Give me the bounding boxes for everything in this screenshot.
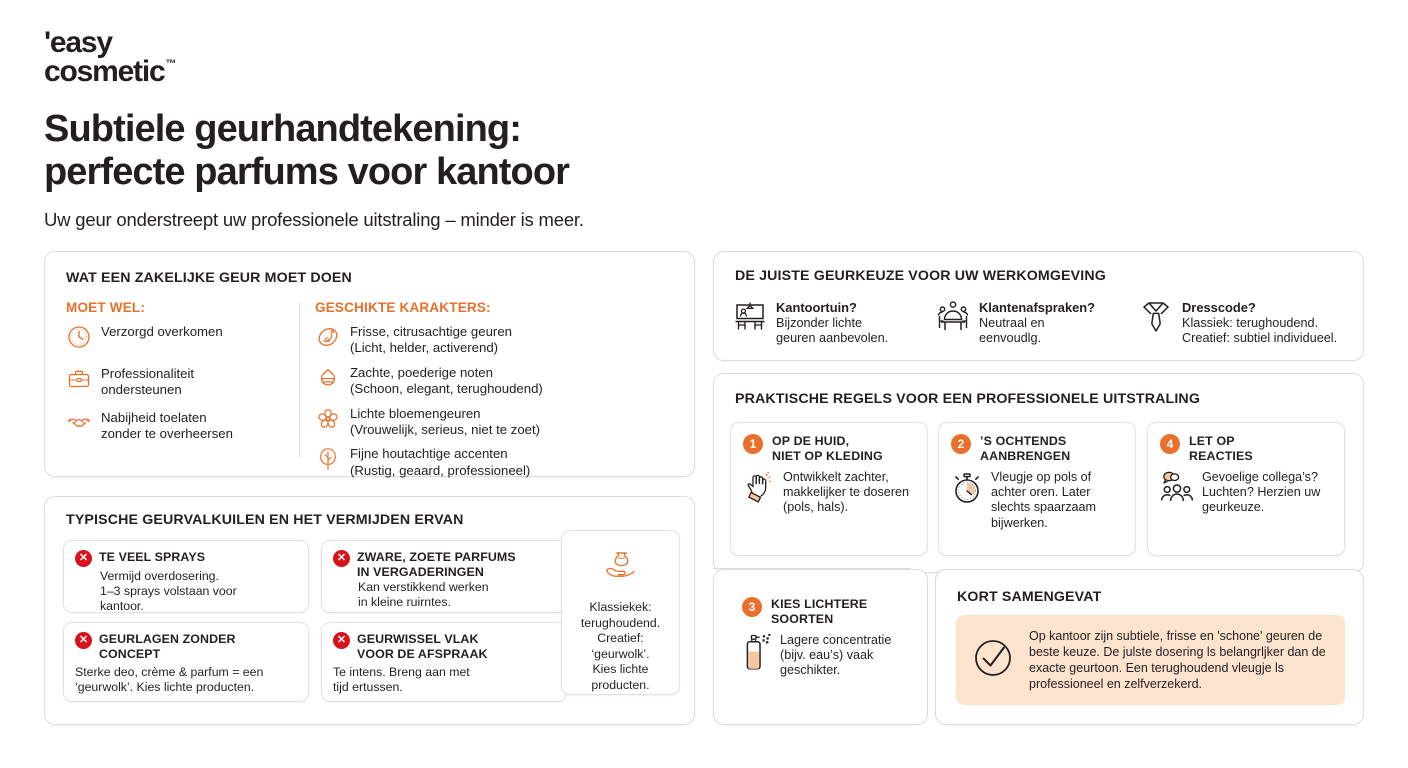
rule-header: 2 ’S OCHTENDS AANBRENGEN [951, 434, 1123, 464]
open-office-desk-icon [733, 300, 767, 339]
environment-item-title: Klantenafspraken? [979, 300, 1095, 315]
necktie-icon [1139, 300, 1173, 339]
summary-text: Op kantoor zijn subtiele, frisse en 'sch… [1029, 628, 1331, 693]
card-title-goals: WAT EEN ZAKELIJKE GEUR MOET DOEN [66, 270, 352, 286]
list-item-line2: (Vrouwelijk, serieus, niet te zoet) [350, 422, 540, 437]
pitfall-header: ✕ ZWARE, ZOETE PARFUMS IN VERGADERINGEN [333, 550, 555, 579]
list-item-label: Fijne houtachtige accenten (Rustig, geaa… [350, 446, 530, 479]
list-item-label: Verzorgd overkomen [101, 324, 223, 340]
spray-bottle-icon [742, 633, 772, 678]
brand-logo: 'easy cosmetic™ [44, 28, 164, 86]
rule-number-badge: 3 [742, 597, 762, 617]
close-icon: ✕ [333, 632, 350, 649]
pitfall-title: ZWARE, ZOETE PARFUMS IN VERGADERINGEN [357, 550, 516, 579]
brand-logo-line1: 'easy [44, 28, 164, 57]
goals-right-column: GESCHIKTE KARAKTERS: Frisse, citrusachti… [315, 300, 665, 479]
flower-icon [315, 406, 341, 437]
rule-body: Ontwikkelt zachter, makkelijker te doser… [743, 470, 915, 516]
pitfall-body: Kan verstikkend werken in kleine ruirnte… [333, 580, 555, 610]
list-item-label: Zachte, poederige noten (Schoon, elegant… [350, 365, 543, 398]
rule-text: Ontwikkelt zachter, makkelijker te doser… [783, 470, 909, 516]
check-circle-icon [970, 635, 1016, 686]
list-item-line1: Lichte bloemengeuren [350, 406, 481, 421]
rule-body: Lagere concentratie (bijv. eau’s) vaak g… [742, 633, 900, 679]
card-title-pitfalls: TYPISCHE GEURVALKUILEN EN HET VERMIJDEN … [66, 512, 464, 528]
close-icon: ✕ [333, 550, 350, 567]
close-icon: ✕ [75, 550, 92, 567]
brand-logo-line2: cosmetic™ [44, 57, 164, 86]
card-what-a-business-scent-should-do: WAT EEN ZAKELIJKE GEUR MOET DOEN MOET WE… [44, 251, 695, 477]
rule-header: 4 LET OP REACTIES [1160, 434, 1332, 464]
pitfalls-side-note: Klassiekek: terughoudend. Creatief: ‘geu… [561, 530, 680, 695]
page-title-line1: Subtiele geurhandtekening: [44, 108, 744, 151]
card-rule-lighter-types: 3 KIES LICHTERE SOORTEN Lagere concentra… [713, 569, 928, 725]
rule-title: ’S OCHTENDS AANBRENGEN [980, 434, 1070, 464]
pitfall-item: ✕ ZWARE, ZOETE PARFUMS IN VERGADERINGEN … [321, 540, 567, 613]
rule-number-badge: 4 [1160, 434, 1180, 454]
environment-item-body: Klassiek: terughoudend. Creatief: subtie… [1182, 316, 1337, 347]
goals-left-heading: MOET WEL: [66, 300, 293, 315]
environment-item-body: Bijzonder lichte geuren aanbevolen. [776, 316, 888, 347]
rule-item: 4 LET OP REACTIES Gevoelige collega’s? L… [1147, 422, 1345, 556]
rule-text: Gevoelige collega’s? Luchten? Herzien uw… [1202, 470, 1320, 516]
rule-text: Lagere concentratie (bijv. eau’s) vaak g… [780, 633, 891, 679]
list-item-label: Nabijheid toelaten zonder te overheersen [101, 410, 233, 443]
list-item: Nabijheid toelaten zonder te overheersen [66, 410, 293, 443]
rule-title: OP DE HUID, NIET OP KLEDING [772, 434, 883, 464]
rule-number-badge: 1 [743, 434, 763, 454]
list-item-line2: (Rustig, geaard, professioneel) [350, 463, 530, 478]
infographic-page: 'easy cosmetic™ Subtiele geurhandtekenin… [0, 0, 1408, 768]
tree-icon [315, 446, 341, 477]
pitfall-body: Sterke deo, crème & parfum = een ‘geurwo… [75, 665, 297, 695]
environment-item: Kantoortuin? Bijzonder lichte geuren aan… [733, 300, 888, 347]
pitfall-header: ✕ GEURWISSEL VLAK VOOR DE AFSPRAAK [333, 632, 555, 661]
pitfall-header: ✕ TE VEEL SPRAYS [75, 550, 297, 567]
meeting-table-people-icon [936, 300, 970, 339]
card-title-rules: PRAKTISCHE REGELS VOOR EEN PROFESSIONELE… [735, 391, 1200, 407]
pitfall-title: GEURWISSEL VLAK VOOR DE AFSPRAAK [357, 632, 488, 661]
list-item-label: Lichte bloemengeuren (Vrouwelijk, serieu… [350, 406, 540, 439]
pitfall-header: ✕ GEURLAGEN ZONDER CONCEPT [75, 632, 297, 661]
list-item: Lichte bloemengeuren (Vrouwelijk, serieu… [315, 406, 665, 439]
list-item-label: Frisse, citrusachtige geuren (Licht, hel… [350, 324, 512, 357]
powder-icon [315, 365, 341, 396]
goals-left-column: MOET WEL: Verzorgd overkomen Professiona… [66, 300, 293, 443]
pitfalls-side-note-text: Klassiekek: terughoudend. Creatief: ‘geu… [581, 600, 660, 694]
card-summary: KORT SAMENGEVAT Op kantoor zijn subtiele… [935, 569, 1364, 725]
list-item-line2: (Licht, helder, activerend) [350, 340, 498, 355]
card-practical-rules: PRAKTISCHE REGELS VOOR EEN PROFESSIONELE… [713, 373, 1364, 573]
hand-wrist-spray-icon [743, 470, 775, 511]
list-item-line2: (Schoon, elegant, terughoudend) [350, 381, 543, 396]
pitfall-item: ✕ GEURWISSEL VLAK VOOR DE AFSPRAAK Te in… [321, 622, 567, 702]
rule-header: 1 OP DE HUID, NIET OP KLEDING [743, 434, 915, 464]
environment-item: Dresscode? Klassiek: terughoudend. Creat… [1139, 300, 1337, 347]
rule-header: 3 KIES LICHTERE SOORTEN [742, 597, 900, 627]
brand-logo-line2-text: cosmetic [44, 55, 164, 88]
card-title-environment: DE JUISTE GEURKEUZE VOOR UW WERKOMGEVING [735, 268, 1106, 284]
lemon-icon [315, 324, 341, 355]
environment-item-text: Klantenafspraken? Neutraal en eenvoudlg. [979, 300, 1095, 347]
environment-item: Klantenafspraken? Neutraal en eenvoudlg. [936, 300, 1095, 347]
environment-item-title: Kantoortuin? [776, 300, 888, 315]
pitfall-body: Vermijd overdosering. 1–3 sprays volstaa… [75, 569, 297, 614]
pitfall-title: GEURLAGEN ZONDER CONCEPT [99, 632, 236, 661]
rule-item: 1 OP DE HUID, NIET OP KLEDING Ontwikkelt… [730, 422, 928, 556]
list-item-line1: Fijne houtachtige accenten [350, 446, 508, 461]
list-item: Zachte, poederige noten (Schoon, elegant… [315, 365, 665, 398]
list-item: Professionaliteit ondersteunen [66, 366, 293, 399]
hand-holding-pouch-icon [601, 545, 641, 590]
summary-highlight-box: Op kantoor zijn subtiele, frisse en 'sch… [956, 615, 1345, 705]
rule-text: Vleugje op pols of achter oren. Later sl… [991, 470, 1096, 532]
rule-item: 3 KIES LICHTERE SOORTEN Lagere concentra… [730, 586, 912, 710]
environment-item-title: Dresscode? [1182, 300, 1337, 315]
handshake-icon [66, 410, 92, 441]
pitfall-title: TE VEEL SPRAYS [99, 550, 205, 565]
list-item: Verzorgd overkomen [66, 324, 293, 355]
list-item-line1: Frisse, citrusachtige geuren [350, 324, 512, 339]
pitfall-item: ✕ GEURLAGEN ZONDER CONCEPT Sterke deo, c… [63, 622, 309, 702]
rule-number-badge: 2 [951, 434, 971, 454]
close-icon: ✕ [75, 632, 92, 649]
trademark-symbol: ™ [165, 50, 175, 79]
list-item-line1: Zachte, poederige noten [350, 365, 493, 380]
page-title-line2: perfecte parfums voor kantoor [44, 151, 744, 194]
page-title: Subtiele geurhandtekening: perfecte parf… [44, 108, 744, 194]
column-divider [299, 302, 300, 458]
briefcase-icon [66, 366, 92, 397]
list-item: Fijne houtachtige accenten (Rustig, geaa… [315, 446, 665, 479]
rule-item: 2 ’S OCHTENDS AANBRENGEN Vleugje op pols… [938, 422, 1136, 556]
goals-right-heading: GESCHIKTE KARAKTERS: [315, 300, 665, 315]
list-item: Frisse, citrusachtige geuren (Licht, hel… [315, 324, 665, 357]
environment-item-body: Neutraal en eenvoudlg. [979, 316, 1095, 347]
stopwatch-icon [951, 470, 983, 511]
rule-title: LET OP REACTIES [1189, 434, 1253, 464]
pitfall-body: Te intens. Breng aan met tijd ertussen. [333, 665, 555, 695]
rule-title: KIES LICHTERE SOORTEN [771, 597, 867, 627]
list-item-label: Professionaliteit ondersteunen [101, 366, 194, 399]
card-right-scent-for-workplace: DE JUISTE GEURKEUZE VOOR UW WERKOMGEVING… [713, 251, 1364, 361]
card-title-summary: KORT SAMENGEVAT [957, 589, 1101, 605]
page-subtitle: Uw geur onderstreept uw professionele ui… [44, 209, 584, 231]
people-speech-icon [1160, 470, 1194, 509]
rule-body: Gevoelige collega’s? Luchten? Herzien uw… [1160, 470, 1332, 516]
environment-item-text: Kantoortuin? Bijzonder lichte geuren aan… [776, 300, 888, 347]
rule-body: Vleugje op pols of achter oren. Later sl… [951, 470, 1123, 532]
clock-icon [66, 324, 92, 355]
environment-item-text: Dresscode? Klassiek: terughoudend. Creat… [1182, 300, 1337, 347]
pitfall-item: ✕ TE VEEL SPRAYS Vermijd overdosering. 1… [63, 540, 309, 613]
